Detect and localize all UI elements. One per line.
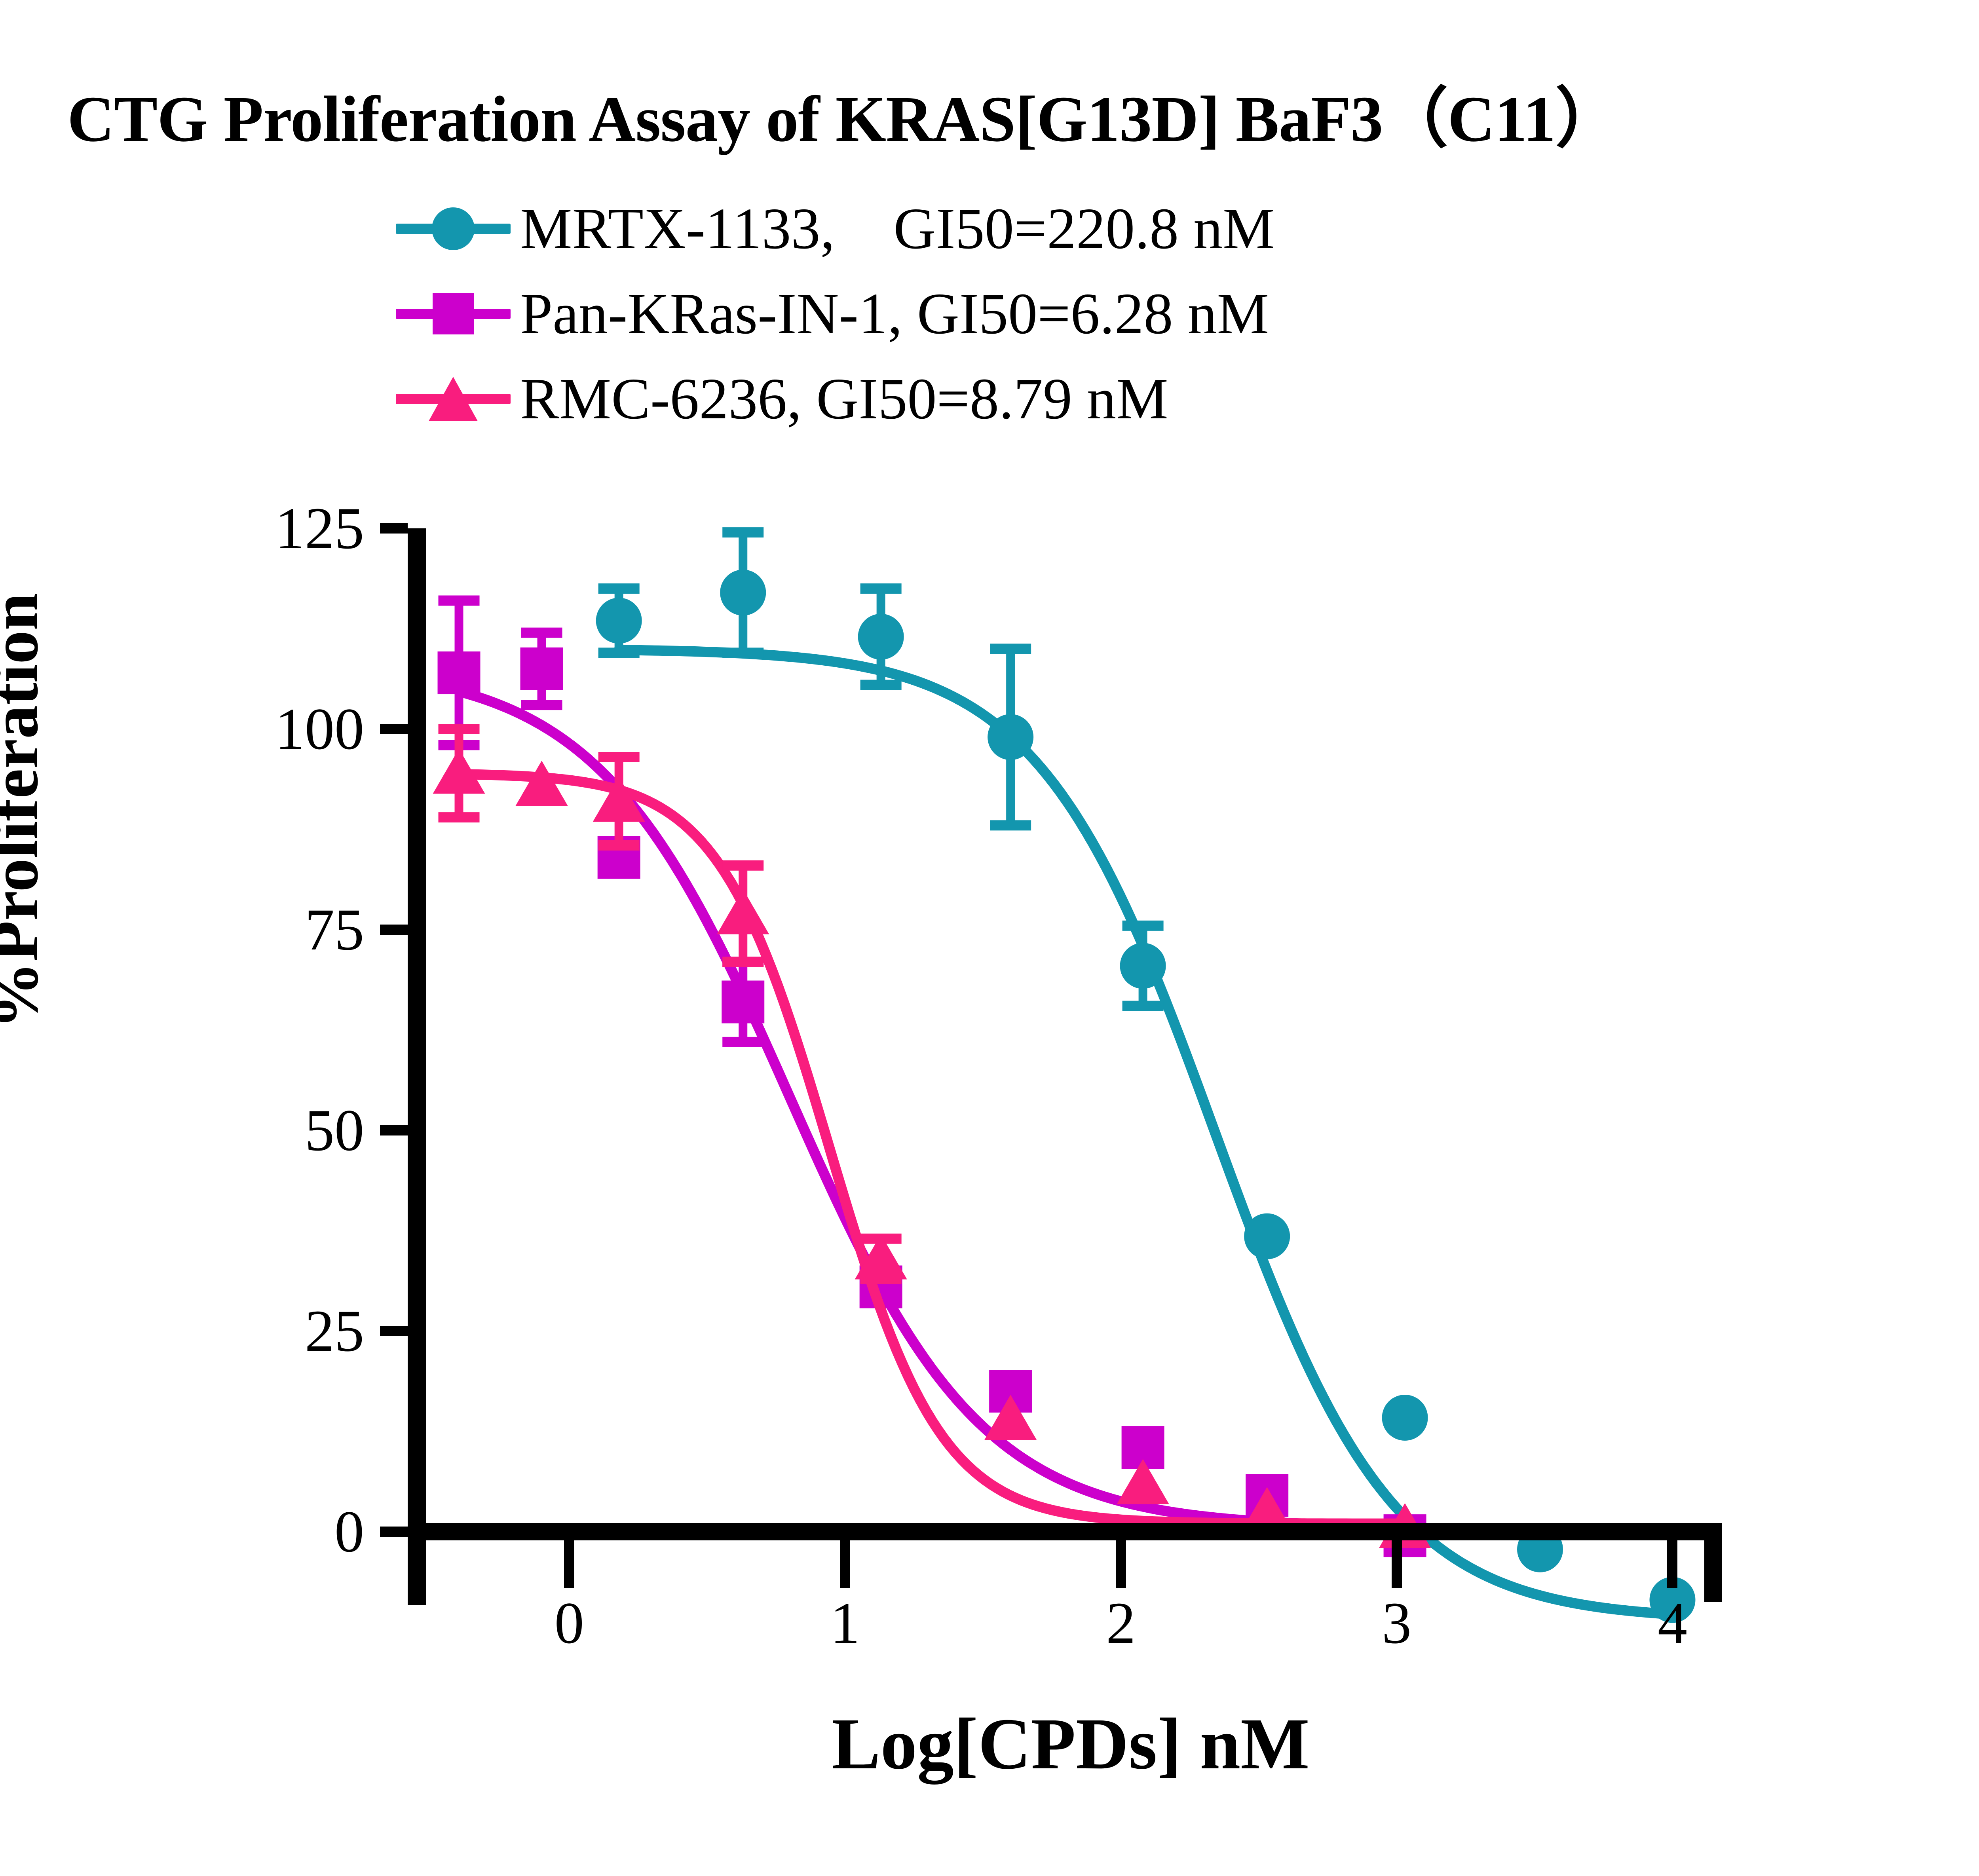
data-point-circle bbox=[858, 614, 904, 660]
legend-item-pan-kras-in-1[interactable]: Pan-KRas-IN-1, GI50=6.28 nM bbox=[396, 271, 1275, 356]
data-point-triangle bbox=[717, 889, 769, 934]
x-tick-label: 1 bbox=[830, 1589, 860, 1657]
data-point-circle bbox=[596, 598, 642, 644]
x-tick-mark bbox=[1116, 1540, 1126, 1588]
y-tick-mark bbox=[380, 724, 408, 734]
data-point-triangle bbox=[984, 1395, 1037, 1440]
data-point-square bbox=[1246, 1474, 1288, 1517]
y-axis-line bbox=[408, 528, 426, 1605]
x-tick-mark bbox=[840, 1540, 850, 1588]
data-point-circle bbox=[720, 570, 766, 615]
x-tick-mark bbox=[564, 1540, 574, 1588]
legend-symbol-circle-icon bbox=[396, 205, 511, 253]
x-tick-label: 2 bbox=[1106, 1589, 1136, 1657]
data-point-triangle bbox=[855, 1234, 907, 1279]
legend-symbol-triangle-icon bbox=[396, 375, 511, 423]
y-tick-mark bbox=[380, 1326, 408, 1336]
y-axis-title: %Proliferation bbox=[0, 593, 53, 1029]
x-tick-label: 4 bbox=[1658, 1589, 1687, 1657]
legend-label: MRTX-1133, GI50=220.8 nM bbox=[511, 199, 1275, 258]
data-point-triangle bbox=[593, 777, 645, 822]
data-point-square bbox=[438, 651, 481, 694]
data-point-square bbox=[1122, 1426, 1164, 1469]
legend-marker-triangle-icon bbox=[429, 377, 478, 421]
fit-curve-rmc-6236 bbox=[459, 774, 1405, 1524]
legend-item-rmc-6236[interactable]: RMC-6236, GI50=8.79 nM bbox=[396, 356, 1275, 441]
data-point-square bbox=[520, 647, 563, 690]
chart-root: CTG Proliferation Assay of KRAS[G13D] Ba… bbox=[0, 0, 1979, 1876]
y-tick-mark bbox=[380, 1527, 408, 1537]
data-point-square bbox=[722, 981, 764, 1023]
x-tick-mark bbox=[1667, 1540, 1677, 1588]
chart-legend: MRTX-1133, GI50=220.8 nMPan-KRas-IN-1, G… bbox=[396, 186, 1275, 441]
y-tick-mark bbox=[380, 925, 408, 935]
legend-label: Pan-KRas-IN-1, GI50=6.28 nM bbox=[511, 285, 1269, 343]
y-tick-mark bbox=[380, 1125, 408, 1135]
page-title: CTG Proliferation Assay of KRAS[G13D] Ba… bbox=[67, 65, 1979, 160]
y-tick-label: 0 bbox=[150, 1498, 364, 1566]
data-point-triangle bbox=[433, 749, 485, 794]
y-tick-label: 125 bbox=[150, 494, 364, 562]
x-tick-label: 3 bbox=[1382, 1589, 1411, 1657]
data-point-circle bbox=[1382, 1395, 1428, 1441]
legend-item-mrtx-1133[interactable]: MRTX-1133, GI50=220.8 nM bbox=[396, 186, 1275, 271]
y-tick-label: 25 bbox=[150, 1297, 364, 1365]
fit-curve-mrtx-1133 bbox=[619, 650, 1673, 1614]
legend-label: RMC-6236, GI50=8.79 nM bbox=[511, 370, 1168, 428]
data-point-circle bbox=[1120, 943, 1166, 989]
data-point-square bbox=[598, 836, 640, 879]
data-point-square bbox=[860, 1265, 902, 1308]
data-point-circle bbox=[988, 714, 1033, 760]
legend-marker-square-icon bbox=[433, 293, 474, 334]
legend-marker-circle-icon bbox=[432, 207, 475, 250]
legend-symbol-square-icon bbox=[396, 290, 511, 338]
x-tick-label: 0 bbox=[555, 1589, 584, 1657]
y-tick-label: 50 bbox=[150, 1096, 364, 1164]
y-tick-label: 75 bbox=[150, 896, 364, 964]
data-point-circle bbox=[1244, 1213, 1290, 1259]
y-tick-label: 100 bbox=[150, 695, 364, 763]
data-point-triangle bbox=[1117, 1459, 1169, 1504]
x-axis-title: Log[CPDs] nM bbox=[418, 1702, 1724, 1786]
fit-curve-pan-kras-in-1 bbox=[459, 691, 1405, 1526]
x-axis-right-cap bbox=[1704, 1523, 1722, 1602]
x-tick-mark bbox=[1392, 1540, 1402, 1588]
x-axis-line bbox=[408, 1523, 1722, 1540]
data-point-triangle bbox=[516, 761, 568, 806]
data-point-square bbox=[989, 1370, 1032, 1413]
y-tick-mark bbox=[380, 523, 408, 534]
